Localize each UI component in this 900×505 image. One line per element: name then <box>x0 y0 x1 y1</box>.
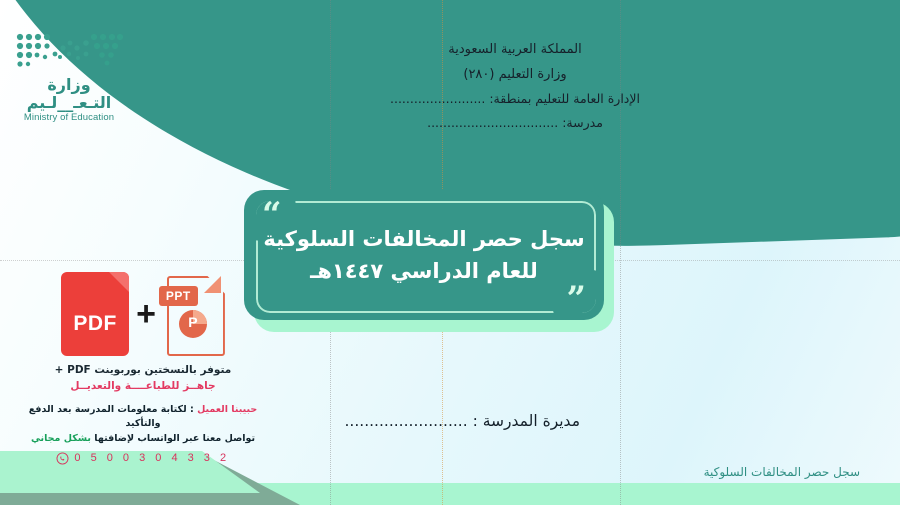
ppt-file-icon: PPT P <box>163 274 225 354</box>
header-directorate: الإدارة العامة للتعليم بمنطقة: .........… <box>350 87 680 111</box>
quote-close-icon: ” <box>566 282 586 316</box>
header-ministry: وزارة التعليم (٢٨٠) <box>350 63 680 88</box>
pdf-label: PDF <box>61 312 129 336</box>
promo-icon-row: PDF + PPT P <box>18 268 268 360</box>
pdf-fold-corner <box>109 272 129 292</box>
plus-icon: + <box>133 297 159 331</box>
title-line-1: سجل حصر المخالفات السلوكية <box>244 224 604 256</box>
promo-note-line-1: حبيبنا العميل : لكتابة معلومات المدرسة ب… <box>18 403 268 432</box>
ppt-logo-letter: P <box>179 314 207 330</box>
ministry-logo: وزارة التـعـ__لـيم Ministry of Education <box>8 30 130 123</box>
title-card-wrapper: “ ” سجل حصر المخالفات السلوكية للعام الد… <box>244 190 604 322</box>
promo-free-highlight: بشكل مجاني <box>31 433 91 444</box>
promo-customer-greeting: حبيبنا العميل <box>197 404 257 415</box>
whatsapp-icon[interactable] <box>56 452 69 465</box>
ppt-fold-corner <box>204 276 221 293</box>
principal-signature-line: مديرة المدرسة : ........................… <box>344 412 580 430</box>
header-school: مدرسة: ................................. <box>350 111 680 135</box>
promo-note-rest-2: تواصل معنا عبر الواتساب لإضافتها <box>91 433 255 444</box>
title-line-2: للعام الدراسي ١٤٤٧هـ <box>244 256 604 288</box>
document-header: المملكة العربية السعودية وزارة التعليم (… <box>350 38 680 135</box>
moe-dots-icon <box>14 30 124 72</box>
footer-label: سجل حصر المخالفات السلوكية <box>704 465 860 479</box>
title-card: “ ” سجل حصر المخالفات السلوكية للعام الد… <box>244 190 604 320</box>
promo-block: PDF + PPT P متوفر بالنسختين بوربوينت PDF… <box>18 268 268 465</box>
ppt-tag-label: PPT <box>159 286 198 306</box>
slide-canvas: وزارة التـعـ__لـيم Ministry of Education… <box>0 0 900 505</box>
header-kingdom: المملكة العربية السعودية <box>350 38 680 63</box>
pdf-file-icon: PDF <box>61 272 129 356</box>
promo-note-line-2: تواصل معنا عبر الواتساب لإضافتها بشكل مج… <box>18 432 268 447</box>
promo-phone-row[interactable]: 0 5 0 0 3 0 4 3 3 2 <box>18 452 268 465</box>
logo-english-text: Ministry of Education <box>8 112 130 123</box>
promo-formats-line: متوفر بالنسختين بوربوينت PDF + <box>18 362 268 378</box>
promo-phone-number[interactable]: 0 5 0 0 3 0 4 3 3 2 <box>74 452 229 464</box>
promo-editable-line: جاهــز للطباعــــة والتعديــل <box>18 378 268 394</box>
title-text-block: سجل حصر المخالفات السلوكية للعام الدراسي… <box>244 224 604 287</box>
ppt-logo-circle: P <box>179 310 207 338</box>
promo-note-rest-1: : لكتابة معلومات المدرسة بعد الدفع والتأ… <box>29 404 197 430</box>
logo-arabic-text: وزارة التـعـ__لـيم <box>8 76 130 111</box>
